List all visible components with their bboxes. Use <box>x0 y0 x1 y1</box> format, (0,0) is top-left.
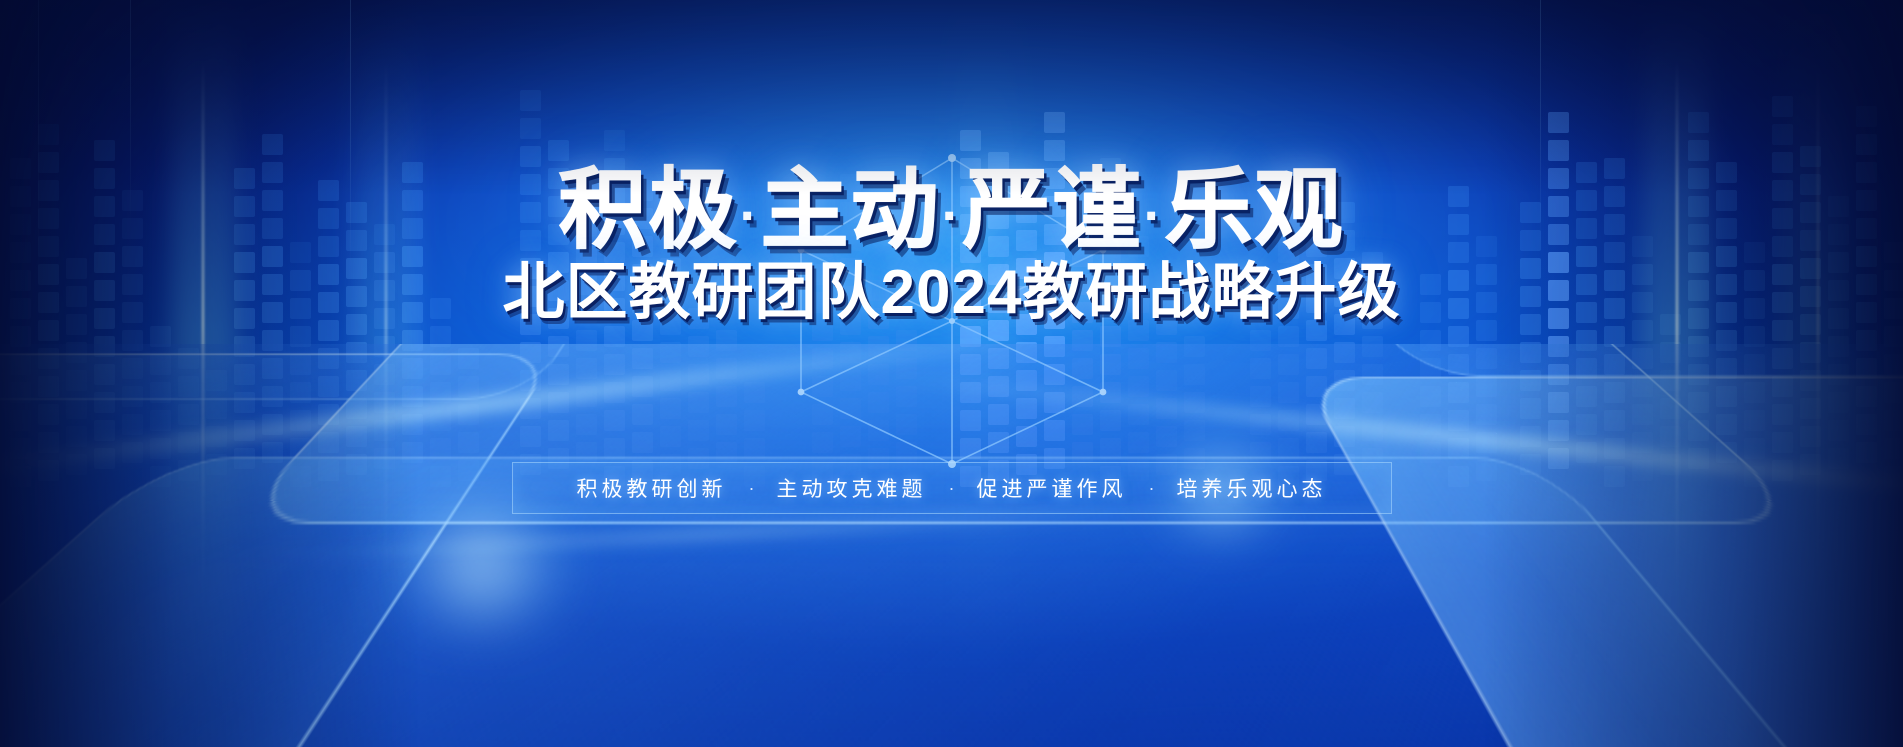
tagline-separator-2: · <box>949 478 955 499</box>
tagline-list: 积极教研创新 · 主动攻克难题 · 促进严谨作风 · 培养乐观心态 <box>577 473 1327 503</box>
page-subtitle: 北区教研团队2024教研战略升级 <box>0 260 1903 325</box>
perspective-tile-floor <box>0 344 1903 747</box>
title-word-1: 积极 <box>558 160 738 259</box>
floor-glow-center <box>367 501 597 631</box>
tagline-separator-3: · <box>1149 478 1155 499</box>
tagline-item-1: 积极教研创新 <box>577 473 727 503</box>
tagline-frame: 积极教研创新 · 主动攻克难题 · 促进严谨作风 · 培养乐观心态 <box>512 462 1392 514</box>
tagline-item-4: 培养乐观心态 <box>1177 473 1327 503</box>
promo-banner: 积极·主动·严谨·乐观 北区教研团队2024教研战略升级 积极教研创新 · 主动… <box>0 0 1903 747</box>
tagline-separator-1: · <box>749 478 755 499</box>
title-word-2: 主动 <box>760 160 940 259</box>
tagline-item-3: 促进严谨作风 <box>977 473 1127 503</box>
title-separator-2: · <box>943 190 961 243</box>
title-word-4: 乐观 <box>1164 160 1344 259</box>
headline-block: 积极·主动·严谨·乐观 北区教研团队2024教研战略升级 <box>0 0 1903 325</box>
page-title: 积极·主动·严谨·乐观 <box>0 166 1903 254</box>
title-separator-1: · <box>741 190 759 243</box>
title-separator-3: · <box>1145 190 1163 243</box>
tagline-item-2: 主动攻克难题 <box>777 473 927 503</box>
title-word-3: 严谨 <box>962 160 1142 259</box>
